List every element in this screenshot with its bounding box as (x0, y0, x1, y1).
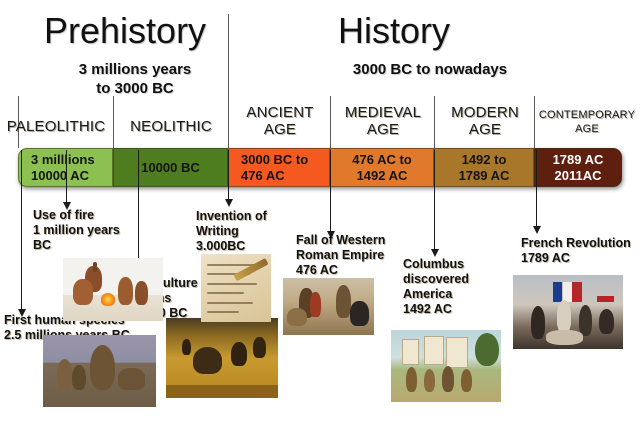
roman-battle-illustration (283, 278, 374, 335)
period-label-paleolithic: PALEOLITHIC (0, 118, 112, 135)
divider-rule-ancient-medieval (330, 96, 331, 148)
timeline-segment-medieval-age[interactable]: 476 AC to 1492 AC (330, 148, 434, 187)
liberty-leading-the-people-illustration (513, 275, 623, 349)
period-label-medieval-age: MEDIEVAL AGE (334, 104, 432, 138)
timeline-segment-medieval-age-range: 476 AC to 1492 AC (331, 152, 433, 184)
early-hominids-illustration (43, 335, 156, 407)
event-arrow-french-revolution (536, 150, 537, 227)
divider-rule-modern-contemporary (534, 96, 535, 148)
timeline-segment-modern-age[interactable]: 1492 to 1789 AC (434, 148, 534, 187)
prehistoric-fire-illustration (63, 258, 163, 321)
event-caption-fall-of-rome: Fall of Western Roman Empire 476 AC (296, 233, 416, 278)
event-caption-french-revolution: French Revolution 1789 AC (521, 236, 640, 266)
divider-rule-prehistory-history (228, 14, 229, 148)
event-caption-invention-of-writing: Invention of Writing 3.000BC (196, 209, 306, 254)
timeline-segment-modern-age-range: 1492 to 1789 AC (435, 152, 533, 184)
history-title: History (338, 10, 450, 52)
timeline-infographic: Prehistory 3 millions years to 3000 BC H… (0, 0, 640, 422)
timeline-bar: 3 milllions 10000 AC 10000 BC 3000 BC to… (18, 148, 622, 187)
divider-rule-paleolithic-neolithic (113, 96, 114, 148)
timeline-segment-neolithic-range: 10000 BC (114, 160, 227, 176)
divider-rule-medieval-modern (434, 96, 435, 148)
event-arrow-columbus (434, 150, 435, 250)
harvest-field-illustration (166, 318, 278, 398)
timeline-segment-paleolithic-range: 3 milllions 10000 AC (19, 152, 95, 184)
history-subtitle: 3000 BC to nowadays (315, 60, 545, 79)
timeline-segment-contemporary-age-range: 1789 AC 2011AC (535, 152, 621, 184)
prehistory-subtitle: 3 millions years to 3000 BC (40, 60, 230, 98)
event-arrow-use-of-fire (66, 150, 67, 203)
timeline-segment-contemporary-age[interactable]: 1789 AC 2011AC (534, 148, 622, 187)
manuscript-quill-illustration (201, 254, 271, 322)
period-label-contemporary-age: CONTEMPORARY AGE (537, 108, 637, 136)
columbus-landing-illustration (391, 330, 501, 402)
event-arrow-fall-of-rome (330, 150, 331, 232)
period-label-neolithic: NEOLITHIC (116, 118, 226, 135)
event-arrow-invention-of-writing (228, 150, 229, 200)
timeline-segment-neolithic[interactable]: 10000 BC (113, 148, 228, 187)
period-label-modern-age: MODERN AGE (438, 104, 532, 138)
prehistory-title: Prehistory (44, 10, 206, 52)
event-arrow-first-human-species (21, 150, 22, 310)
period-label-ancient-age: ANCIENT AGE (232, 104, 328, 138)
event-caption-use-of-fire: Use of fire 1 million years BC (33, 208, 153, 253)
timeline-segment-ancient-age-range: 3000 BC to 476 AC (229, 152, 308, 184)
event-caption-columbus: Columbus discovered America 1492 AC (403, 257, 498, 317)
timeline-segment-ancient-age[interactable]: 3000 BC to 476 AC (228, 148, 330, 187)
